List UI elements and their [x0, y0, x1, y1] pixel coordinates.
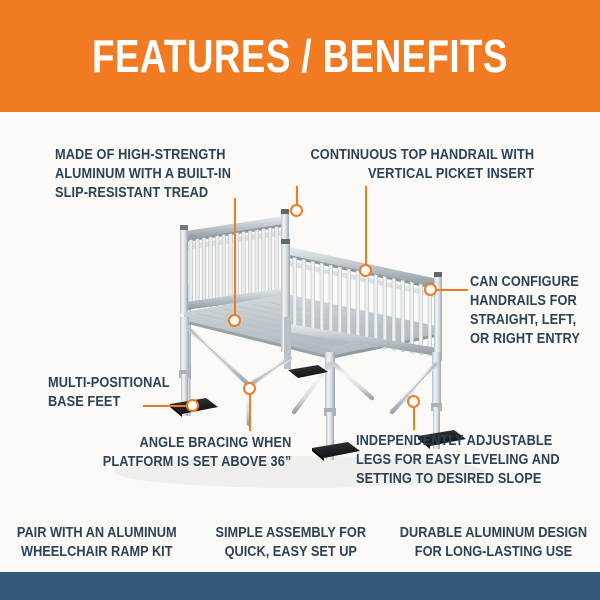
callout-material-line-2: ALUMINUM WITH A BUILT-IN — [55, 165, 231, 184]
callout-dot-legs — [407, 395, 420, 408]
footer-col-1-line-2: WHEELCHAIR RAMP KIT — [12, 543, 182, 562]
footer-col-1-line-1: PAIR WITH AN ALUMINUM — [12, 524, 182, 543]
footer-col-3-line-1: DURABLE ALUMINUM DESIGN — [400, 524, 587, 543]
footer-col-2-line-1: SIMPLE ASSEMBLY FOR — [205, 524, 375, 543]
leader-line-handrail-right — [365, 186, 367, 268]
callout-dot-material — [228, 314, 241, 327]
callout-adjustable-legs-line-1: INDEPENDENTLY ADJUSTABLE — [356, 432, 560, 451]
leader-line-configure — [432, 289, 468, 291]
callout-configure-line-1: CAN CONFIGURE — [470, 273, 580, 292]
callout-adjustable-legs-line-2: LEGS FOR EASY LEVELING AND — [356, 451, 560, 470]
leader-line-material — [234, 198, 236, 317]
footer-column-pair-with-ramp-kit: PAIR WITH AN ALUMINUM WHEELCHAIR RAMP KI… — [0, 524, 194, 562]
leader-line-legs — [413, 406, 415, 430]
footer-column-durable-design: DURABLE ALUMINUM DESIGN FOR LONG-LASTING… — [387, 524, 600, 562]
callout-material: MADE OF HIGH-STRENGTH ALUMINUM WITH A BU… — [55, 146, 255, 203]
callout-angle-bracing: ANGLE BRACING WHEN PLATFORM IS SET ABOVE… — [77, 434, 291, 472]
callout-material-line-1: MADE OF HIGH-STRENGTH — [55, 146, 231, 165]
callout-configure: CAN CONFIGURE HANDRAILS FOR STRAIGHT, LE… — [470, 273, 595, 348]
callout-angle-bracing-line-1: ANGLE BRACING WHEN — [102, 434, 291, 453]
footer-col-2-line-2: QUICK, EASY SET UP — [205, 543, 375, 562]
callout-handrail-line-2: VERTICAL PICKET INSERT — [310, 165, 534, 184]
callout-base-feet-line-2: BASE FEET — [48, 393, 170, 412]
callout-adjustable-legs-line-3: SETTING TO DESIRED SLOPE — [356, 470, 560, 489]
callout-configure-line-2: HANDRAILS FOR — [470, 292, 580, 311]
leader-line-bracing — [249, 393, 251, 431]
callout-base-feet: MULTI-POSITIONAL BASE FEET — [48, 374, 186, 412]
bottom-accent-bar — [0, 572, 600, 600]
callout-dot-base-feet — [186, 399, 199, 412]
header-banner: FEATURES / BENEFITS — [0, 0, 600, 112]
callout-dot-handrail-left — [290, 204, 303, 217]
footer-col-3-line-2: FOR LONG-LASTING USE — [400, 543, 587, 562]
footer-column-simple-assembly: SIMPLE ASSEMBLY FOR QUICK, EASY SET UP — [194, 524, 388, 562]
callout-dot-handrail-right — [359, 264, 372, 277]
callout-configure-line-3: STRAIGHT, LEFT, — [470, 311, 580, 330]
callout-angle-bracing-line-2: PLATFORM IS SET ABOVE 36” — [102, 453, 291, 472]
infographic-page: FEATURES / BENEFITS — [0, 0, 600, 600]
callout-base-feet-line-1: MULTI-POSITIONAL — [48, 374, 170, 393]
callout-adjustable-legs: INDEPENDENTLY ADJUSTABLE LEGS FOR EASY L… — [356, 432, 587, 489]
callout-dot-configure — [424, 283, 437, 296]
callout-handrail-line-1: CONTINUOUS TOP HANDRAIL WITH — [310, 146, 534, 165]
footer-benefits-row: PAIR WITH AN ALUMINUM WHEELCHAIR RAMP KI… — [0, 524, 600, 562]
page-title: FEATURES / BENEFITS — [92, 33, 508, 79]
callout-handrail: CONTINUOUS TOP HANDRAIL WITH VERTICAL PI… — [280, 146, 534, 184]
callout-dot-bracing — [243, 382, 256, 395]
callout-configure-line-4: OR RIGHT ENTRY — [470, 330, 580, 349]
callout-material-line-3: SLIP-RESISTANT TREAD — [55, 184, 231, 203]
